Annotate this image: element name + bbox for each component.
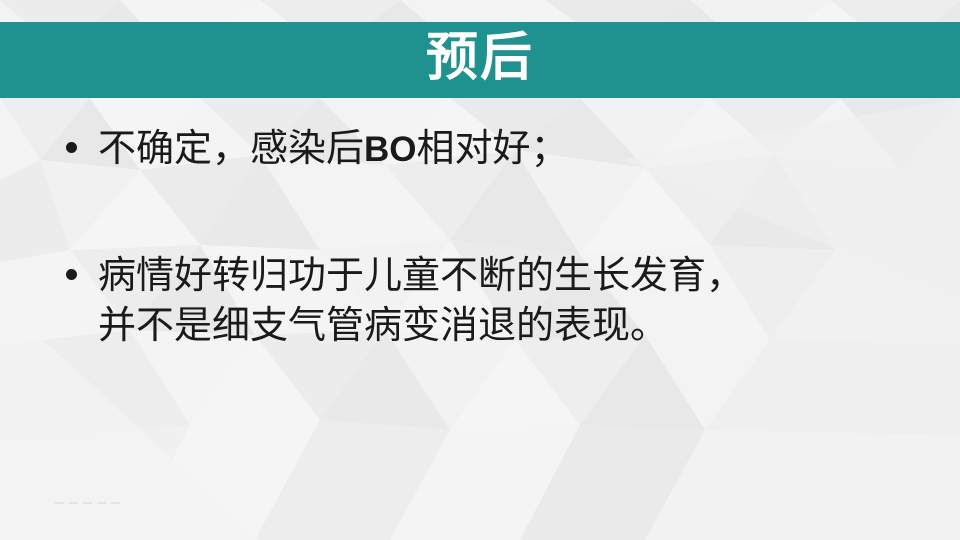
footer-dash [83,502,92,504]
page-title: 预后 [426,33,534,85]
bullet-text: 病情好转归功于儿童不断的生长发育， 并不是细支气管病变消退的表现。 [98,251,920,351]
bullet-text-segment-leading: 不确定，感染后 [98,128,364,170]
footer-dash-marks [55,502,120,504]
bullet-dot-icon [66,269,77,280]
slide-body: 不确定，感染后BO相对好； 病情好转归功于儿童不断的生长发育， 并不是细支气管病… [0,98,960,540]
bullet-text: 不确定，感染后BO相对好； [98,124,920,175]
footer-dash [111,502,120,504]
title-banner: 预后 [0,22,960,98]
list-item: 不确定，感染后BO相对好； [60,124,920,175]
slide: 预后 不确定，感染后BO相对好； 病情好转归功于儿童不断的生长发育， 并不是细支… [0,0,960,540]
bullet-text-abbreviation: BO [364,130,417,169]
bullet-dot-icon [66,142,77,153]
list-item: 病情好转归功于儿童不断的生长发育， 并不是细支气管病变消退的表现。 [60,251,920,351]
footer-dash [55,502,64,504]
footer-dash [97,502,106,504]
bullet-text-segment-trailing: 相对好； [417,128,569,170]
bullet-list: 不确定，感染后BO相对好； 病情好转归功于儿童不断的生长发育， 并不是细支气管病… [60,124,920,351]
footer-dash [69,502,78,504]
